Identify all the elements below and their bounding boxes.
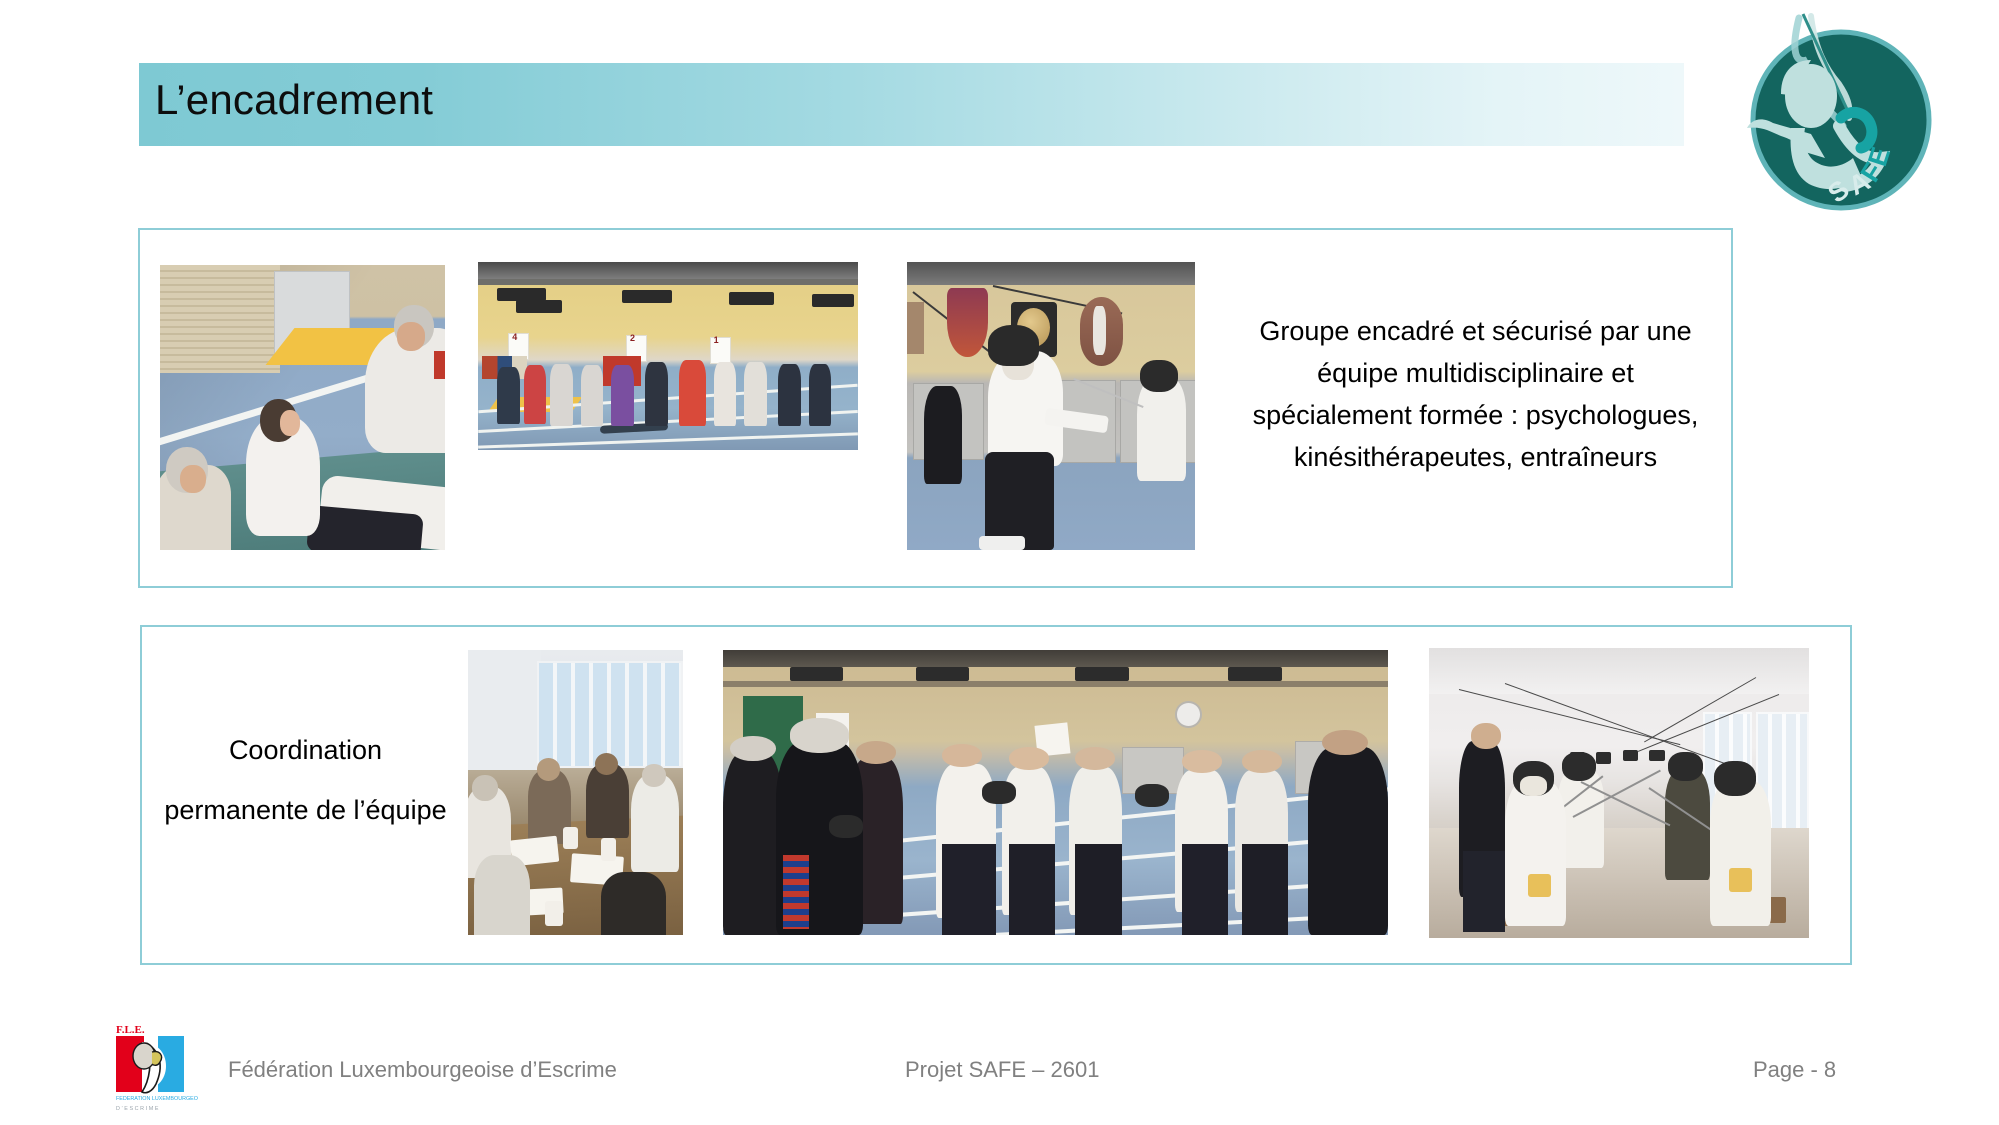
footer-project-name: Projet SAFE – 2601	[905, 1057, 1099, 1083]
page-title: L’encadrement	[155, 76, 433, 124]
svg-text:FEDERATION LUXEMBOURGEOISE: FEDERATION LUXEMBOURGEOISE	[116, 1096, 198, 1102]
footer-federation-name: Fédération Luxembourgeoise d’Escrime	[228, 1057, 617, 1083]
photo-first-aid-on-mat	[160, 265, 445, 550]
photo-large-group-briefing	[723, 650, 1388, 935]
photo-fencer-in-salle	[907, 262, 1195, 550]
photo-seated-fencers-lesson	[1429, 648, 1809, 938]
fle-logo: F.L.E. FEDERATION LUXEMBOURGEOISE D’ESCR…	[108, 1022, 198, 1114]
photo-group-in-gym-hall: 421	[478, 262, 858, 450]
svg-text:F.L.E.: F.L.E.	[116, 1024, 145, 1036]
safe-logo: S A F E	[1733, 8, 1943, 218]
footer-page-number: Page - 8	[1753, 1057, 1836, 1083]
svg-text:D’ESCRIME: D’ESCRIME	[116, 1106, 160, 1112]
photo-team-meeting	[468, 650, 683, 935]
bottom-panel-description: Coordination permanente de l’équipe	[163, 720, 448, 840]
top-panel-description: Groupe encadré et sécurisé par une équip…	[1248, 310, 1703, 478]
